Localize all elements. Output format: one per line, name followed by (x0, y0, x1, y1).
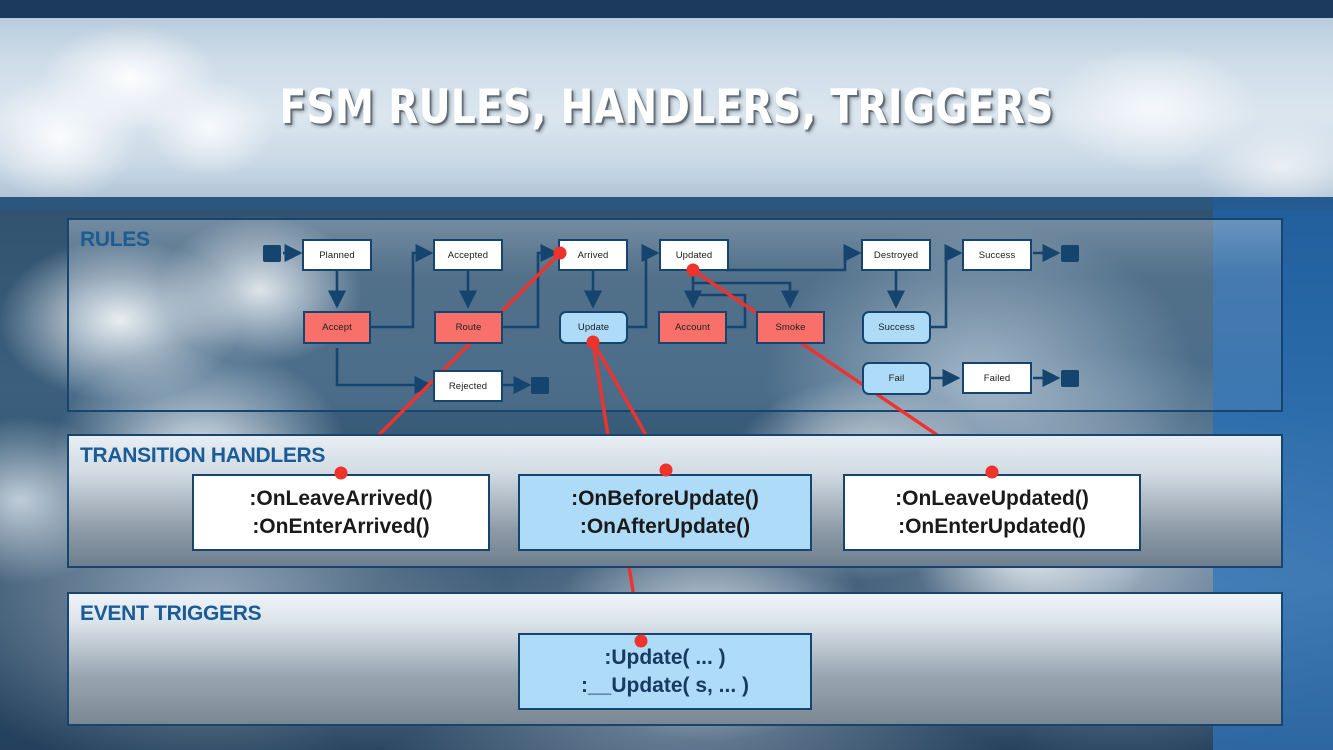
callout-update-line1: :OnBeforeUpdate() (571, 485, 759, 513)
fsm-node-success-handler[interactable]: Success (862, 311, 931, 344)
fsm-node-account[interactable]: Account (658, 311, 727, 344)
callout-update-triggers[interactable]: :Update( ... ) :__Update( s, ... ) (518, 633, 812, 710)
callout-updated-handlers[interactable]: :OnLeaveUpdated() :OnEnterUpdated() (843, 474, 1141, 551)
fsm-node-failed[interactable]: Failed (962, 362, 1032, 394)
fsm-node-success-state[interactable]: Success (962, 239, 1032, 271)
fsm-terminal-start (263, 245, 281, 262)
leader-dot-updated (687, 264, 700, 277)
fsm-terminal-failed (1061, 370, 1079, 387)
slide-canvas: FSM RULES, HANDLERS, TRIGGERS RULES (0, 0, 1333, 750)
fsm-node-planned[interactable]: Planned (302, 239, 372, 271)
section-label-handlers: TRANSITION HANDLERS (80, 444, 325, 468)
callout-arrived-handlers[interactable]: :OnLeaveArrived() :OnEnterArrived() (192, 474, 490, 551)
fsm-node-rejected[interactable]: Rejected (433, 370, 503, 402)
fsm-node-accept[interactable]: Accept (303, 311, 371, 344)
fsm-node-route[interactable]: Route (434, 311, 503, 344)
leader-dot-arrived-callout (335, 467, 348, 480)
fsm-node-destroyed[interactable]: Destroyed (861, 239, 931, 271)
callout-update-line2: :OnAfterUpdate() (580, 513, 750, 541)
leader-dot-trigger-callout (635, 635, 648, 648)
callout-trigger-line2: :__Update( s, ... ) (581, 672, 749, 700)
leader-dot-update-callout (660, 464, 673, 477)
section-label-rules: RULES (80, 228, 150, 252)
fsm-terminal-rejected (531, 377, 549, 394)
callout-update-handlers[interactable]: :OnBeforeUpdate() :OnAfterUpdate() (518, 474, 812, 551)
section-label-triggers: EVENT TRIGGERS (80, 602, 261, 626)
callout-arrived-line1: :OnLeaveArrived() (249, 485, 432, 513)
callout-updated-line2: :OnEnterUpdated() (898, 513, 1086, 541)
fsm-terminal-success (1061, 245, 1079, 262)
leader-dot-update (587, 336, 600, 349)
leader-dot-updated-callout (986, 466, 999, 479)
leader-dot-arrived (554, 247, 567, 260)
callout-arrived-line2: :OnEnterArrived() (252, 513, 429, 541)
callout-trigger-line1: :Update( ... ) (604, 644, 725, 672)
fsm-node-accepted[interactable]: Accepted (433, 239, 503, 271)
page-title: FSM RULES, HANDLERS, TRIGGERS (47, 80, 1287, 135)
top-accent-bar (0, 0, 1333, 18)
fsm-node-fail[interactable]: Fail (862, 362, 931, 395)
callout-updated-line1: :OnLeaveUpdated() (895, 485, 1089, 513)
fsm-node-smoke[interactable]: Smoke (756, 311, 825, 344)
title-band-underline (0, 197, 1333, 210)
fsm-node-arrived[interactable]: Arrived (558, 239, 628, 271)
